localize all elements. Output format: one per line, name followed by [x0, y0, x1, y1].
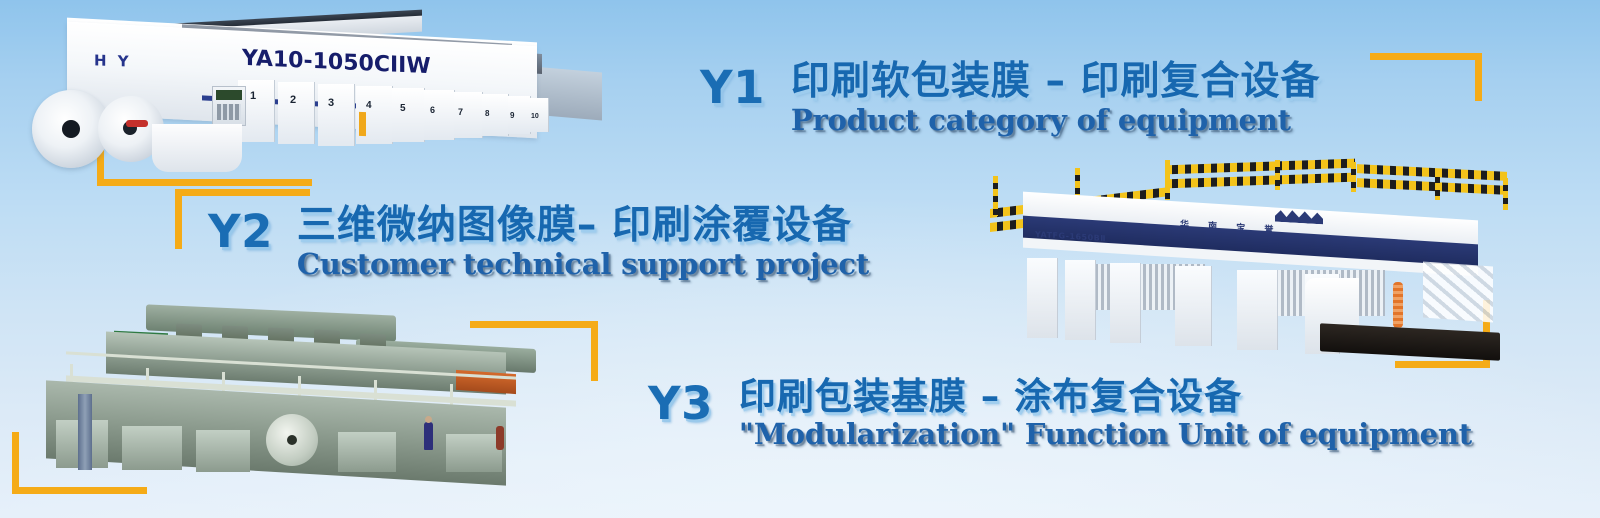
press-station-3: 3: [328, 97, 334, 109]
machine-photo-paper-coater: [26, 302, 571, 480]
banner-root: H Y YA10-1050CIIW 1 2 3 4 5 6 7 8 9 10: [0, 0, 1600, 518]
press-station-10: 10: [531, 113, 539, 120]
entry-y2: Y2 三维微纳图像膜– 印刷涂覆设备 Customer technical su…: [208, 206, 869, 279]
entry-y1-code: Y1: [700, 62, 765, 114]
entry-y2-title-cn: 三维微纳图像膜– 印刷涂覆设备: [297, 206, 869, 247]
entry-y3-code: Y3: [648, 378, 713, 430]
entry-y1-title-en: Product category of equipment: [791, 105, 1321, 135]
press-station-7: 7: [458, 107, 463, 117]
press-station-1: 1: [250, 90, 256, 102]
bracket-topright-horizontal: [1370, 53, 1482, 60]
bracket-bottomleft-vertical: [12, 432, 19, 494]
entry-y2-code: Y2: [208, 206, 273, 258]
entry-y3: Y3 印刷包装基膜 – 涂布复合设备 "Modularization" Func…: [648, 378, 1472, 449]
press-station-5: 5: [400, 103, 406, 114]
entry-y1: Y1 印刷软包装膜 – 印刷复合设备 Product category of e…: [700, 62, 1321, 135]
machine-photo-rotogravure-press: H Y YA10-1050CIIW 1 2 3 4 5 6 7 8 9 10: [22, 4, 622, 179]
bracket-y2-right-vertical: [591, 321, 598, 381]
press-station-8: 8: [485, 109, 489, 118]
entry-y2-title-en: Customer technical support project: [297, 249, 869, 279]
entry-y1-title-cn: 印刷软包装膜 – 印刷复合设备: [791, 62, 1321, 103]
bracket-bottomright-horizontal: [1395, 361, 1490, 368]
bracket-topleft-horizontal: [97, 179, 312, 186]
press-station-9: 9: [510, 111, 514, 120]
bracket-topright-vertical: [1475, 53, 1482, 101]
bracket-y2-horizontal: [175, 189, 310, 196]
press-brand-logo: H Y: [94, 51, 132, 70]
bracket-y2-vertical: [175, 189, 182, 249]
entry-y3-title-en: "Modularization" Function Unit of equipm…: [739, 419, 1472, 449]
entry-y3-title-cn: 印刷包装基膜 – 涂布复合设备: [739, 378, 1472, 417]
bracket-bottomleft-horizontal: [12, 487, 147, 494]
machine-photo-laminator: 华 南 宝 誉 YATFG-1650BⅡ: [975, 160, 1520, 360]
press-station-4: 4: [366, 100, 372, 111]
press-station-6: 6: [430, 105, 435, 115]
press-station-2: 2: [290, 94, 296, 106]
